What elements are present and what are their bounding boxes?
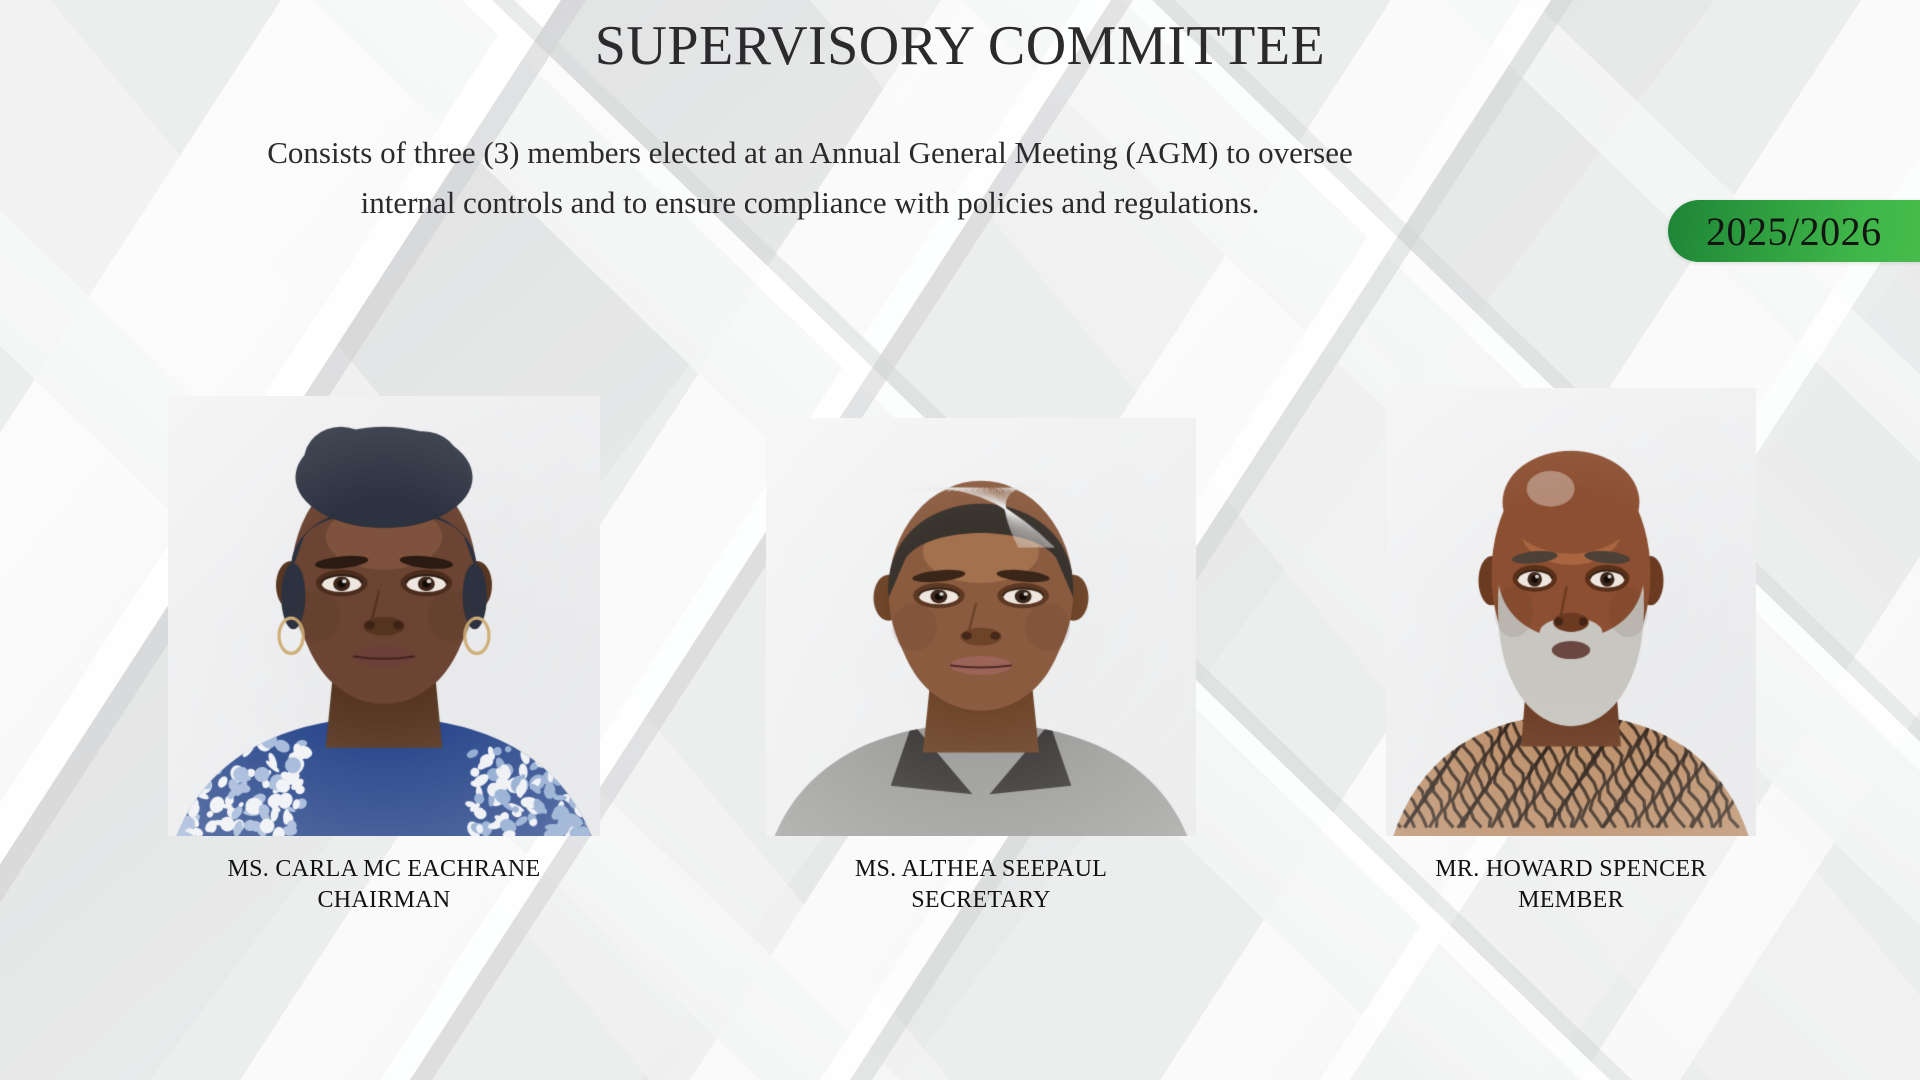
member-name: MS. CARLA MC EACHRANE <box>168 854 600 885</box>
member-card-chairman: MS. CARLA MC EACHRANE CHAIRMAN <box>168 396 600 915</box>
member-photo-2 <box>766 418 1196 836</box>
member-role: SECRETARY <box>766 885 1196 916</box>
member-card-member: MR. HOWARD SPENCER MEMBER <box>1386 388 1756 915</box>
member-list: MS. CARLA MC EACHRANE CHAIRMAN MS. ALTHE… <box>0 0 1920 1080</box>
member-card-secretary: MS. ALTHEA SEEPAUL SECRETARY <box>766 418 1196 915</box>
member-name: MS. ALTHEA SEEPAUL <box>766 854 1196 885</box>
member-caption-1: MS. CARLA MC EACHRANE CHAIRMAN <box>168 854 600 915</box>
member-caption-3: MR. HOWARD SPENCER MEMBER <box>1386 854 1756 915</box>
member-role: MEMBER <box>1386 885 1756 916</box>
member-photo-1 <box>168 396 600 836</box>
member-role: CHAIRMAN <box>168 885 600 916</box>
member-photo-3 <box>1386 388 1756 836</box>
member-caption-2: MS. ALTHEA SEEPAUL SECRETARY <box>766 854 1196 915</box>
member-name: MR. HOWARD SPENCER <box>1386 854 1756 885</box>
